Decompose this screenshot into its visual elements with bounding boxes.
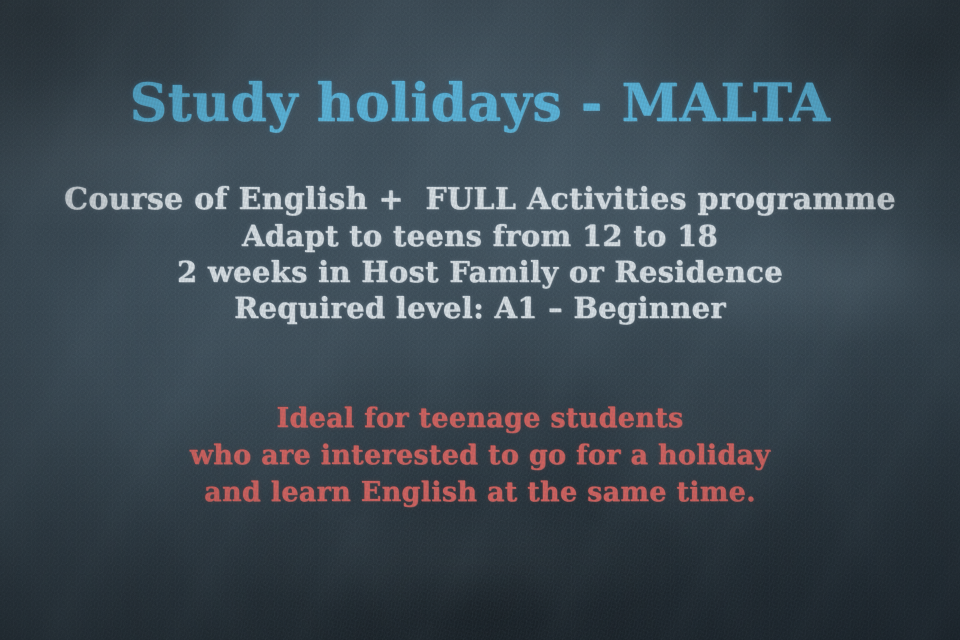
course-detail-line-4: Required level: A1 – Beginner xyxy=(234,290,726,326)
poster-title: Study holidays - MALTA xyxy=(130,78,831,130)
course-detail-line-1: Course of English + FULL Activities prog… xyxy=(64,182,896,218)
audience-note-line-2: who are interested to go for a holiday xyxy=(190,437,771,474)
poster-content: Study holidays - MALTA Course of English… xyxy=(0,0,960,640)
audience-note-line-1: Ideal for teenage students xyxy=(277,400,684,437)
course-detail-line-3: 2 weeks in Host Family or Residence xyxy=(177,254,783,290)
audience-note-block: Ideal for teenage students who are inter… xyxy=(0,400,960,511)
audience-note-line-3: and learn English at the same time. xyxy=(204,474,756,511)
chalkboard-poster: Study holidays - MALTA Course of English… xyxy=(0,0,960,640)
poster-title-block: Study holidays - MALTA xyxy=(0,78,960,130)
course-details-block: Course of English + FULL Activities prog… xyxy=(0,182,960,326)
course-detail-line-2: Adapt to teens from 12 to 18 xyxy=(242,218,718,254)
